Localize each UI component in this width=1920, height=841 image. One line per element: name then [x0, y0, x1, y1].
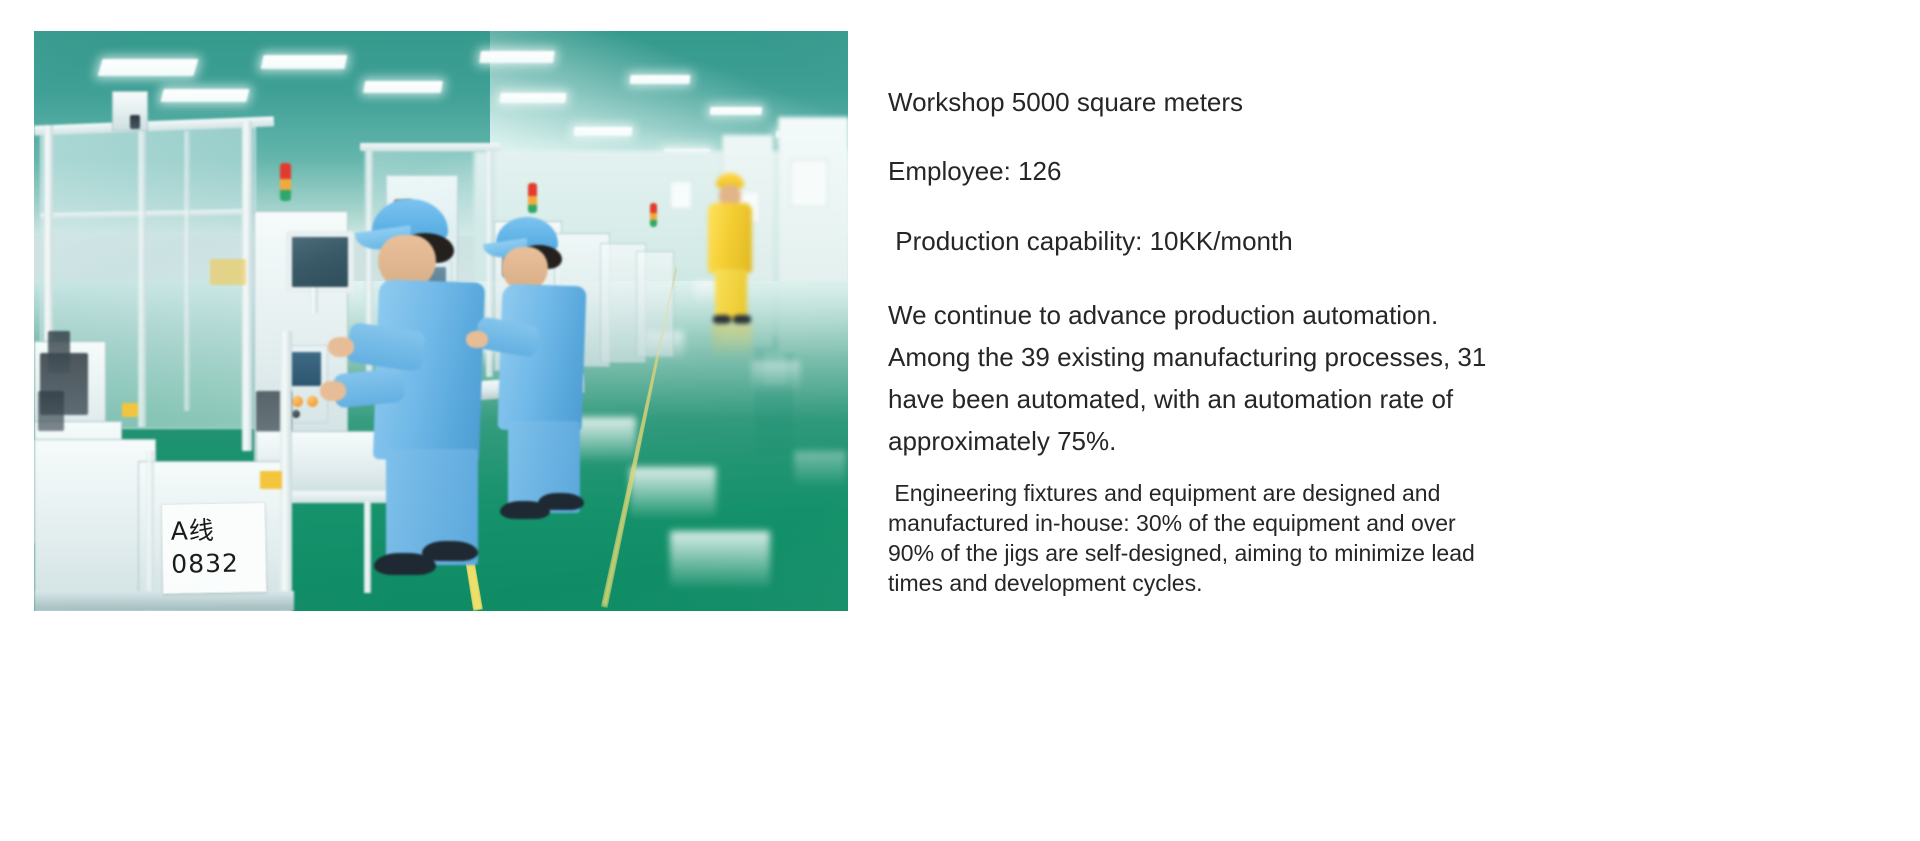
line-id-sign-text: A线 0832 — [170, 513, 259, 581]
worker-reflection — [712, 324, 752, 358]
worker-shoe — [538, 493, 584, 510]
factory-photo-canvas: A线 0832 — [34, 31, 848, 611]
worker-hand — [466, 331, 488, 348]
monitor-stand — [310, 287, 318, 313]
ceiling-light-panel — [710, 107, 763, 115]
ceiling-light-panel — [98, 59, 199, 76]
worker-hand — [328, 337, 354, 357]
automation-paragraph: We continue to advance production automa… — [888, 294, 1493, 462]
machine-frame-post — [138, 127, 146, 427]
machine-part — [38, 391, 64, 431]
line-id-sign: A线 0832 — [161, 502, 267, 594]
ceiling-light-panel — [630, 75, 691, 84]
worker-hand — [320, 381, 346, 401]
worker-shoe — [713, 315, 731, 324]
workshop-area-line: Workshop 5000 square meters — [888, 86, 1508, 119]
worker-background-yellow — [702, 173, 762, 331]
ceiling-light-panel — [499, 93, 566, 103]
ceiling-light-panel — [574, 127, 633, 136]
hazard-label — [122, 403, 138, 417]
machine-frame-post — [242, 121, 252, 451]
fixtures-paragraph: Engineering fixtures and equipment are d… — [888, 478, 1500, 598]
signal-tower-light — [650, 203, 657, 227]
worker-shoe — [733, 315, 751, 324]
hazard-label — [260, 471, 282, 489]
document-holder — [210, 259, 246, 285]
control-panel-screen — [289, 352, 321, 386]
worker-torso — [497, 284, 586, 433]
ceiling-light-panel — [261, 55, 348, 69]
page-root: A线 0832 — [0, 0, 1920, 841]
handle — [48, 331, 70, 373]
factory-photo: A线 0832 — [34, 31, 848, 611]
signal-tower-light — [280, 163, 291, 201]
worker-torso — [708, 203, 752, 273]
overhead-sensor — [130, 115, 140, 129]
control-button-orange[interactable] — [307, 396, 318, 407]
second-station-beam — [360, 143, 500, 151]
cabinet-base — [34, 591, 294, 611]
employee-count-line: Employee: 126 — [888, 155, 1508, 188]
production-capability-line: Production capability: 10KK/month — [888, 225, 1508, 258]
worker-second — [466, 217, 616, 547]
ceiling-light-panel — [479, 51, 555, 63]
far-machine — [636, 251, 674, 357]
control-button-dark[interactable] — [292, 410, 300, 418]
machine-frame-post — [184, 131, 190, 411]
control-button-orange[interactable] — [292, 396, 303, 407]
signal-tower-light — [528, 183, 537, 213]
worker-legs — [715, 269, 747, 321]
frame-post — [146, 451, 154, 611]
description-text-column: Workshop 5000 square meters Employee: 12… — [888, 86, 1508, 598]
